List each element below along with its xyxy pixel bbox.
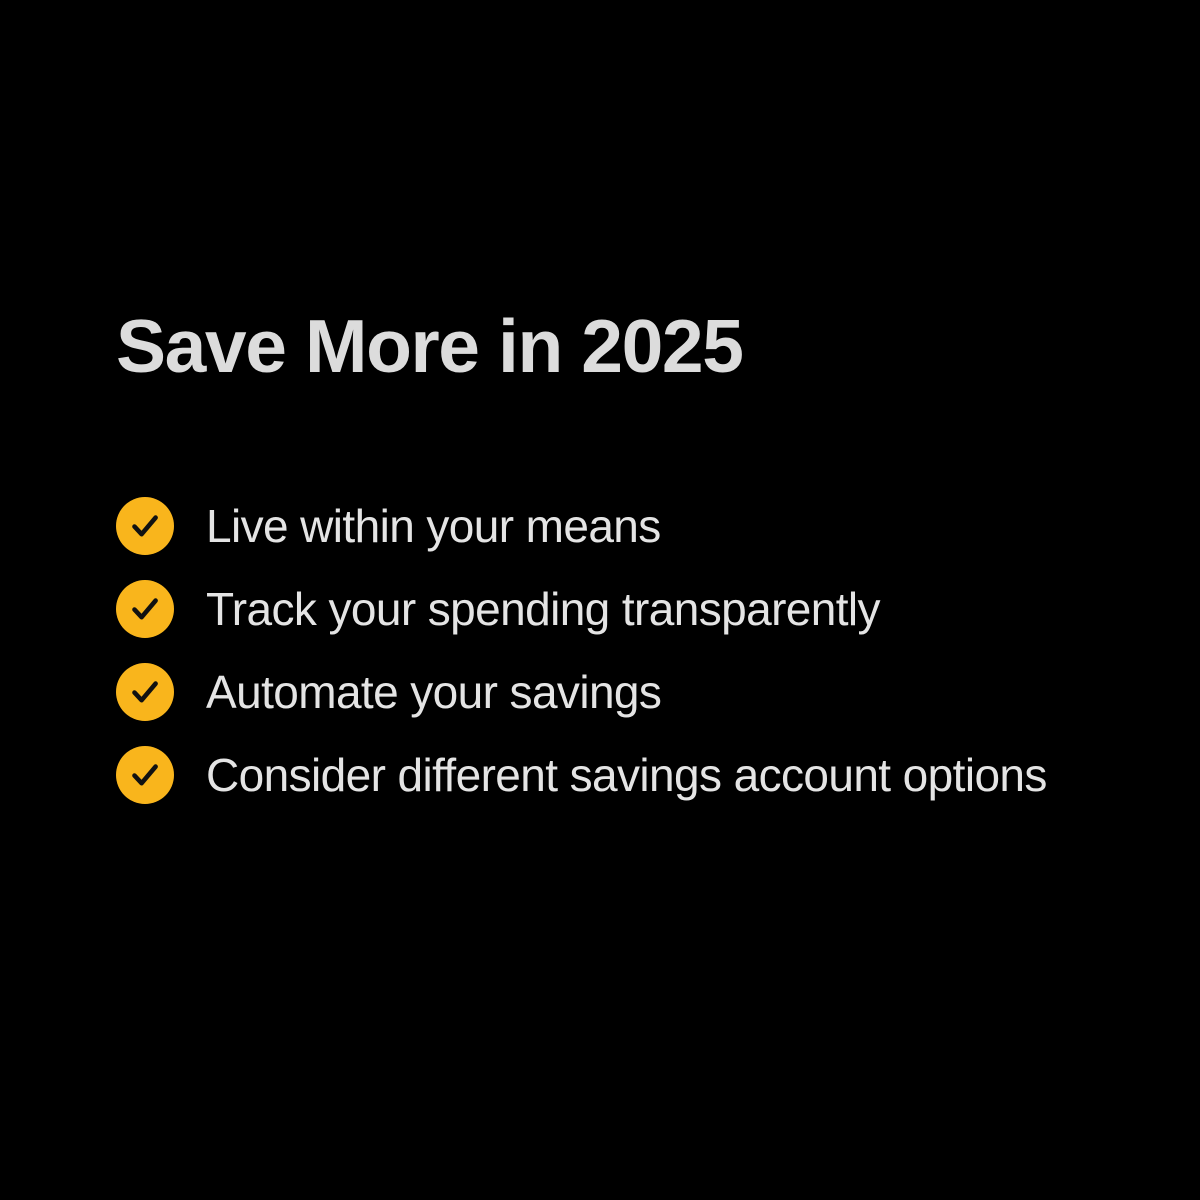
check-circle-icon [116, 497, 174, 555]
list-item: Track your spending transparently [116, 567, 1136, 650]
check-circle-icon [116, 580, 174, 638]
list-item: Consider different savings account optio… [116, 733, 1136, 816]
list-item-label: Automate your savings [206, 664, 661, 720]
check-circle-icon [116, 746, 174, 804]
list-item: Automate your savings [116, 650, 1136, 733]
list-item-label: Consider different savings account optio… [206, 747, 1047, 803]
checklist: Live within your means Track your spendi… [116, 484, 1136, 816]
list-item: Live within your means [116, 484, 1136, 567]
list-item-label: Live within your means [206, 498, 661, 554]
slide-canvas: Save More in 2025 Live within your means… [0, 0, 1200, 1200]
page-title: Save More in 2025 [116, 302, 743, 390]
list-item-label: Track your spending transparently [206, 581, 880, 637]
check-circle-icon [116, 663, 174, 721]
